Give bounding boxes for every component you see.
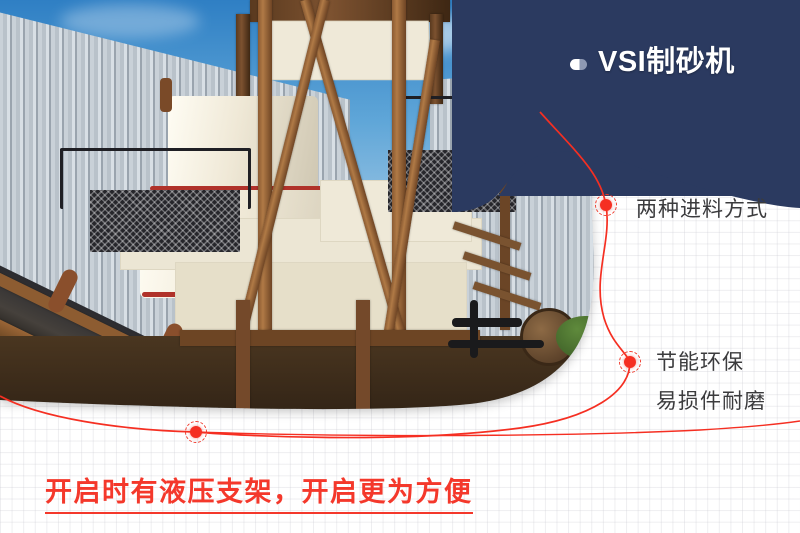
- base-post-right: [356, 300, 370, 430]
- hydraulic-hose: [448, 340, 544, 348]
- bush-shape: [556, 316, 616, 360]
- machine-photo: [0, 0, 648, 432]
- white-tarp: [479, 104, 558, 179]
- red-dot-marker-icon: [595, 194, 617, 216]
- promo-banner: VSI制砂机 两种进料方式 节能环保 易损件耐磨 开启时有液压支架，开启更为方便: [0, 0, 800, 533]
- page-title: VSI制砂机: [598, 38, 735, 80]
- platform-railing-left: [60, 148, 251, 209]
- machine-photo-clip: [0, 0, 648, 432]
- base-post-left: [236, 300, 250, 430]
- stair-stringer: [500, 170, 510, 330]
- red-dot-marker-icon: [619, 351, 641, 373]
- marker-core: [190, 426, 202, 438]
- marker-core: [624, 356, 636, 368]
- hydraulic-cylinder: [470, 300, 478, 358]
- feature-label-1: 两种进料方式: [636, 193, 768, 223]
- marker-core: [600, 199, 612, 211]
- bottom-caption: 开启时有液压支架，开启更为方便: [45, 470, 473, 514]
- feature-label-2: 节能环保: [656, 346, 744, 376]
- machine-photo-scene: [0, 0, 648, 432]
- red-dot-marker-icon: [185, 421, 207, 443]
- machine-vent-pipe: [160, 78, 172, 112]
- base-cross-beam: [180, 330, 480, 346]
- pill-dot-icon: [570, 59, 587, 70]
- feature-label-3: 易损件耐磨: [656, 385, 766, 415]
- overhead-beam: [250, 0, 450, 22]
- hydraulic-hose: [452, 318, 522, 327]
- feed-hopper: [267, 21, 432, 81]
